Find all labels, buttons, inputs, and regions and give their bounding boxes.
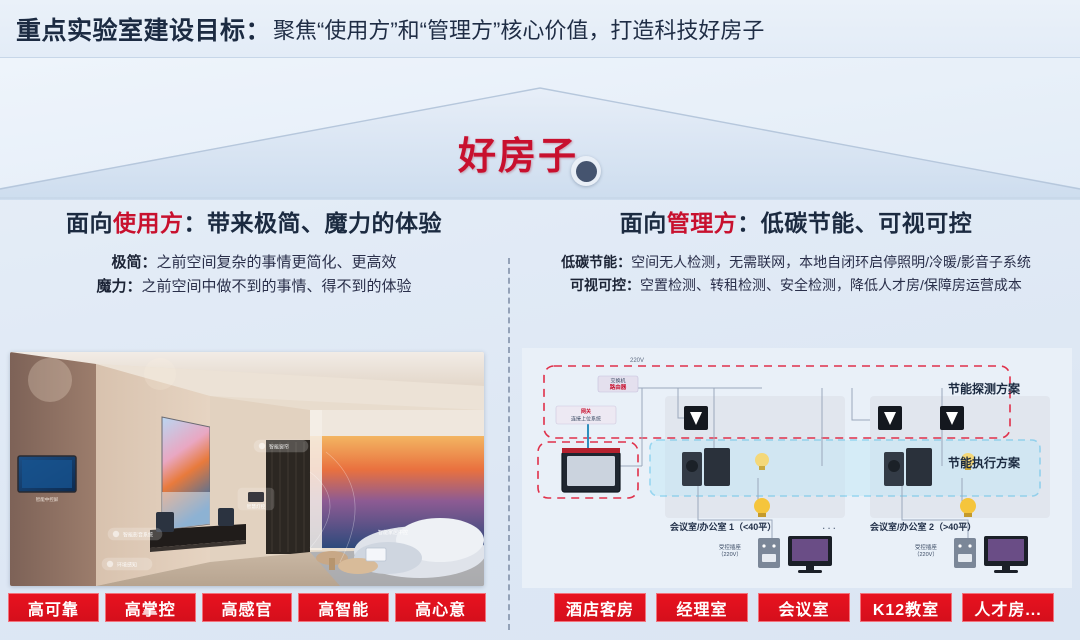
- room-ellipsis: ...: [822, 518, 838, 532]
- svg-text:路由器: 路由器: [610, 383, 627, 391]
- right-column: 面向管理方：低碳节能、可视可控 低碳节能：空间无人检测，无需联网，本地自闭环启停…: [520, 204, 1072, 296]
- room-label-2: 会议室/办公室 2（>40平）: [870, 520, 976, 533]
- zone-label-execution: 节能执行方案: [948, 454, 1020, 471]
- socket-caption-1: 受控插座 （220V）: [718, 545, 742, 559]
- right-column-heading: 面向管理方：低碳节能、可视可控: [520, 204, 1072, 238]
- left-tag-row: 高可靠 高掌控 高感官 高智能 高心意: [8, 593, 486, 622]
- room-area: （<40平）: [734, 522, 776, 532]
- list-item: 可视可控：空置检测、转租检测、安全检测，降低人才房/保障房运营成本: [524, 274, 1068, 297]
- right-head-accent: 管理方: [667, 210, 738, 236]
- slide-header: 重点实验室建设目标： 聚焦“使用方”和“管理方”核心价值，打造科技好房子: [0, 0, 1080, 58]
- tag-item[interactable]: 高感官: [202, 593, 293, 622]
- svg-text:交换机: 交换机: [610, 378, 625, 385]
- svg-text:智能窗帘: 智能窗帘: [269, 444, 289, 451]
- left-head-prefix: 面向: [66, 210, 113, 236]
- socket-caption-2: 受控插座 （220V）: [914, 545, 938, 559]
- right-tag-row: 酒店客房 经理室 会议室 K12教室 人才房...: [554, 593, 1054, 622]
- tag-item[interactable]: 高心意: [395, 593, 486, 622]
- sensor-icon: [684, 406, 708, 430]
- left-head-suffix: ：带来极简、魔力的体验: [184, 210, 443, 236]
- room-area: （>40平）: [934, 522, 976, 532]
- slide-root: 重点实验室建设目标： 聚焦“使用方”和“管理方”核心价值，打造科技好房子 好房子: [0, 0, 1080, 640]
- svg-text:连接上位系统: 连接上位系统: [571, 416, 601, 423]
- tag-item[interactable]: 经理室: [656, 593, 748, 622]
- list-item: 极简：之前空间复杂的事情更简化、更高效: [12, 251, 496, 275]
- left-media-photo: 智能中控屏: [10, 352, 484, 586]
- list-item: 低碳节能：空间无人检测，无需联网，本地自闭环启停照明/冷暖/影音子系统: [524, 251, 1068, 274]
- sensor-icon: [940, 406, 964, 430]
- bullet-key: 魔力：: [96, 278, 141, 295]
- bullet-key: 极简：: [111, 254, 156, 271]
- socket-icon: [954, 538, 976, 568]
- socket-caption-sub: （220V）: [914, 552, 938, 559]
- tag-item[interactable]: K12教室: [860, 593, 952, 622]
- socket-caption-text: 受控插座: [914, 545, 938, 552]
- svg-text:网关: 网关: [581, 408, 591, 415]
- column-divider: [508, 258, 510, 630]
- left-head-accent: 使用方: [113, 210, 184, 236]
- speaker-icon: [884, 448, 932, 486]
- brand-title: 好房子: [458, 125, 578, 180]
- bullet-text: 空置检测、转租检测、安全检测，降低人才房/保障房运营成本: [640, 277, 1022, 293]
- sensor-icon: [878, 406, 902, 430]
- svg-text:环境感知: 环境感知: [117, 562, 137, 569]
- room-label-1: 会议室/办公室 1（<40平）: [670, 520, 776, 533]
- tag-item[interactable]: 高可靠: [8, 593, 99, 622]
- right-media-diagram: 交换机 路由器 网关 连接上位系统 220V: [522, 348, 1072, 588]
- socket-caption-text: 受控插座: [718, 545, 742, 552]
- right-bullet-list: 低碳节能：空间无人检测，无需联网，本地自闭环启停照明/冷暖/影音子系统 可视可控…: [520, 251, 1072, 296]
- room-name: 会议室/办公室 2: [870, 522, 934, 532]
- list-item: 魔力：之前空间中做不到的事情、得不到的体验: [12, 275, 496, 299]
- right-head-suffix: ：低碳节能、可视可控: [737, 210, 972, 236]
- bullet-text: 之前空间中做不到的事情、得不到的体验: [142, 278, 412, 295]
- tag-item[interactable]: 高智能: [298, 593, 389, 622]
- living-room-render: 智能中控屏: [10, 352, 484, 586]
- svg-text:220V: 220V: [630, 358, 644, 364]
- bullet-key: 可视可控：: [570, 277, 640, 293]
- socket-icon: [758, 538, 780, 568]
- page-title: 重点实验室建设目标：: [16, 11, 271, 47]
- left-column: 面向使用方：带来极简、魔力的体验 极简：之前空间复杂的事情更简化、更高效 魔力：…: [8, 204, 500, 300]
- tag-item[interactable]: 会议室: [758, 593, 850, 622]
- dark-circle-icon: [571, 156, 601, 186]
- right-head-prefix: 面向: [620, 210, 667, 236]
- speaker-icon: [682, 448, 730, 486]
- bullet-text: 之前空间复杂的事情更简化、更高效: [157, 254, 397, 271]
- bullet-text: 空间无人检测，无需联网，本地自闭环启停照明/冷暖/影音子系统: [631, 254, 1031, 270]
- svg-text:智慧灯控: 智慧灯控: [247, 503, 266, 510]
- left-column-heading: 面向使用方：带来极简、魔力的体验: [8, 204, 500, 238]
- socket-caption-sub: （220V）: [718, 552, 742, 559]
- room-name: 会议室/办公室 1: [670, 522, 734, 532]
- tag-item[interactable]: 高掌控: [105, 593, 196, 622]
- zone-label-detection: 节能探测方案: [948, 380, 1020, 397]
- bullet-key: 低碳节能：: [561, 254, 631, 270]
- svg-text:智能影音系统: 智能影音系统: [123, 532, 153, 539]
- tag-item[interactable]: 人才房...: [962, 593, 1054, 622]
- page-subtitle: 聚焦“使用方”和“管理方”核心价值，打造科技好房子: [273, 13, 764, 45]
- left-bullet-list: 极简：之前空间复杂的事情更简化、更高效 魔力：之前空间中做不到的事情、得不到的体…: [8, 251, 500, 300]
- tag-item[interactable]: 酒店客房: [554, 593, 646, 622]
- svg-text:智能家居中控: 智能家居中控: [378, 529, 408, 536]
- svg-text:智能中控屏: 智能中控屏: [36, 496, 59, 503]
